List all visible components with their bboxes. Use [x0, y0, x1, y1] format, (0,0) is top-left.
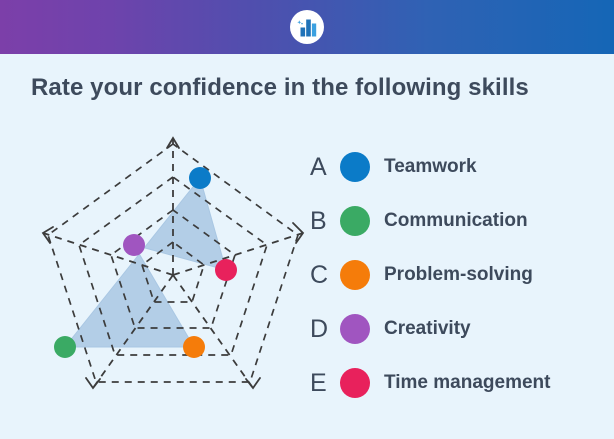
- legend-item-creativity[interactable]: D Creativity: [310, 302, 610, 356]
- legend-label-creativity: Creativity: [384, 318, 471, 340]
- legend-dot-time-management: [340, 368, 370, 398]
- bar-chart-logo-icon: [290, 10, 324, 44]
- legend-dot-problem-solving: [340, 260, 370, 290]
- legend-key-a: A: [310, 155, 340, 180]
- legend-key-d: D: [310, 317, 340, 342]
- radar-axis-arrowheads: [43, 138, 303, 388]
- slide-root: Rate your confidence in the following sk…: [0, 0, 614, 439]
- data-point-creativity[interactable]: [123, 234, 145, 256]
- legend-dot-creativity: [340, 314, 370, 344]
- page-header: [0, 0, 614, 54]
- page-title: Rate your confidence in the following sk…: [31, 74, 529, 102]
- legend-item-time-management[interactable]: E Time management: [310, 356, 610, 410]
- legend-dot-communication: [340, 206, 370, 236]
- radar-chart-svg: [10, 130, 310, 420]
- legend-label-teamwork: Teamwork: [384, 156, 477, 178]
- radar-axes: [43, 138, 303, 388]
- data-point-time-management[interactable]: [215, 259, 237, 281]
- legend-label-communication: Communication: [384, 210, 528, 232]
- legend-key-c: C: [310, 263, 340, 288]
- legend-item-teamwork[interactable]: A Teamwork: [310, 140, 610, 194]
- legend-label-time-management: Time management: [384, 372, 550, 394]
- legend-item-communication[interactable]: B Communication: [310, 194, 610, 248]
- legend-label-problem-solving: Problem-solving: [384, 264, 533, 286]
- data-point-communication[interactable]: [54, 336, 76, 358]
- legend-item-problem-solving[interactable]: C Problem-solving: [310, 248, 610, 302]
- legend-key-e: E: [310, 371, 340, 396]
- data-point-problem-solving[interactable]: [183, 336, 205, 358]
- radar-chart: [10, 130, 310, 420]
- legend: A Teamwork B Communication C Problem-sol…: [310, 140, 610, 410]
- data-point-teamwork[interactable]: [189, 167, 211, 189]
- legend-dot-teamwork: [340, 152, 370, 182]
- legend-key-b: B: [310, 209, 340, 234]
